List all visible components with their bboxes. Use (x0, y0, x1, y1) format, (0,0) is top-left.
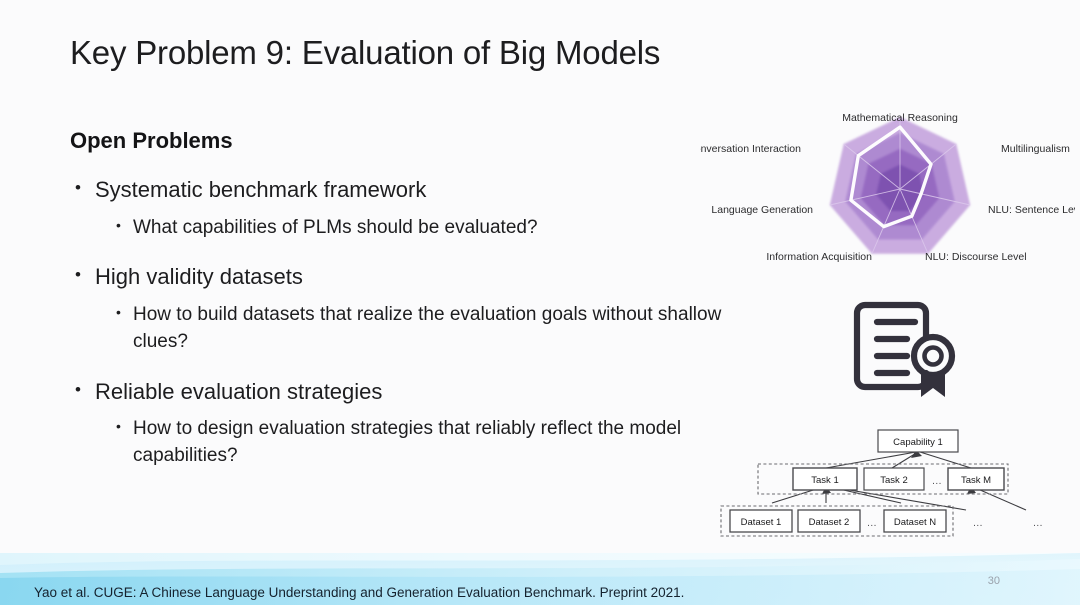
problem-main-label: High validity datasets (95, 264, 303, 289)
problem-sub-item: • What capabilities of PLMs should be ev… (70, 215, 730, 242)
radar-label-6: Conversation Interaction (700, 143, 801, 155)
content-body: Open Problems • Systematic benchmark fra… (70, 128, 730, 492)
tree-node-dataset-1: Dataset 1 (730, 510, 792, 532)
trailing-ellipsis-2: ... (1033, 518, 1043, 529)
radar-grid-rings (830, 117, 970, 254)
datasets-ellipsis: ... (867, 518, 877, 529)
bullet-glyph: • (116, 302, 121, 324)
seal-outer-ring (914, 337, 952, 375)
section-heading: Open Problems (70, 128, 730, 154)
node-label-task-m: Task M (961, 475, 991, 486)
node-label-task-2: Task 2 (880, 475, 907, 486)
tree-node-task-2: Task 2 (864, 468, 924, 490)
radar-label-2: NLU: Sentence Level (988, 204, 1075, 216)
radar-label-0: Mathematical Reasoning (842, 112, 958, 124)
problem-sub-label: How to design evaluation strategies that… (133, 418, 681, 466)
citation-text: Yao et al. CUGE: A Chinese Language Unde… (34, 585, 684, 600)
trailing-ellipsis-1: ... (973, 518, 983, 529)
problem-sub-item: • How to build datasets that realize the… (70, 302, 730, 356)
problem-main-item: • Systematic benchmark framework (70, 176, 730, 204)
problem-main-label: Reliable evaluation strategies (95, 379, 382, 404)
tree-node-root: Capability 1 (878, 430, 958, 452)
radar-label-3: NLU: Discourse Level (925, 251, 1027, 263)
tree-node-task-1: Task 1 (793, 468, 857, 490)
tree-node-dataset-n: Dataset N (884, 510, 946, 532)
capability-taxonomy-tree: Capability 1 Task 1 Task 2 ... Task M (716, 420, 1076, 548)
bullet-glyph: • (75, 378, 81, 403)
problem-main-item: • High validity datasets (70, 263, 730, 291)
problem-block: • High validity datasets • How to build … (70, 263, 730, 355)
certificate-document-icon (843, 287, 968, 402)
node-label-dataset-n: Dataset N (894, 517, 936, 528)
node-label-capability: Capability 1 (893, 437, 943, 448)
problem-main-item: • Reliable evaluation strategies (70, 378, 730, 406)
tree-node-task-m: Task M (948, 468, 1004, 490)
node-label-dataset-1: Dataset 1 (741, 517, 782, 528)
radar-label-1: Multilingualism (1001, 143, 1070, 155)
problem-sub-label: What capabilities of PLMs should be eval… (133, 217, 538, 238)
radar-label-4: Information Acquisition (766, 251, 872, 263)
problem-main-label: Systematic benchmark framework (95, 177, 426, 202)
tree-nodes: Capability 1 Task 1 Task 2 ... Task M (730, 430, 1043, 532)
tree-node-dataset-2: Dataset 2 (798, 510, 860, 532)
problem-sub-label: How to build datasets that realize the e… (133, 304, 721, 352)
page-title: Key Problem 9: Evaluation of Big Models (70, 34, 660, 72)
page-number: 30 (988, 575, 1000, 587)
tasks-ellipsis: ... (932, 476, 942, 487)
problem-block: • Reliable evaluation strategies • How t… (70, 378, 730, 470)
bullet-glyph: • (75, 176, 81, 201)
seal-inner-ring (925, 348, 942, 365)
bullet-glyph: • (75, 263, 81, 288)
node-label-dataset-2: Dataset 2 (809, 517, 850, 528)
bullet-glyph: • (116, 416, 121, 438)
radar-label-5: Language Generation (711, 204, 813, 216)
bullet-glyph: • (116, 215, 121, 237)
capability-radar-chart: Mathematical Reasoning Multilingualism N… (700, 103, 1075, 278)
problem-sub-item: • How to design evaluation strategies th… (70, 416, 730, 470)
node-label-task-1: Task 1 (811, 475, 838, 486)
problem-block: • Systematic benchmark framework • What … (70, 176, 730, 241)
slide-canvas: Key Problem 9: Evaluation of Big Models … (0, 0, 1080, 605)
